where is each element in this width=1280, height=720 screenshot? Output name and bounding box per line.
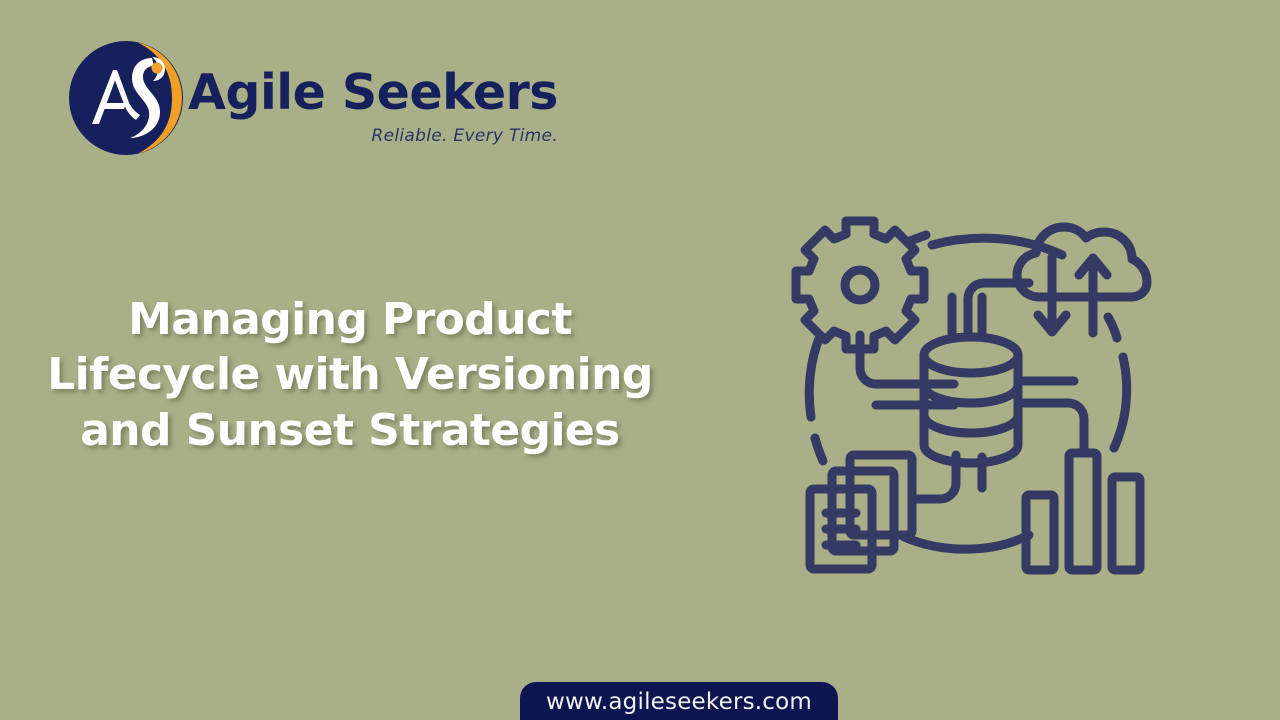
page-title-line-3: and Sunset Strategies	[0, 403, 700, 458]
brand-name: Agile Seekers	[188, 68, 558, 117]
arc-bottom	[904, 535, 1029, 549]
arc-right-long	[1114, 357, 1127, 448]
gear-icon	[796, 221, 924, 349]
arc-right-short	[1108, 317, 1117, 338]
brand-tagline: Reliable. Every Time.	[372, 126, 558, 146]
website-url-badge[interactable]: www.agileseekers.com	[520, 682, 838, 720]
brand-logo-block: Agile Seekers Reliable. Every Time.	[68, 40, 558, 156]
website-url-text: www.agileseekers.com	[546, 689, 812, 715]
product-lifecycle-illustration	[786, 205, 1156, 575]
bar-chart-icon	[1026, 453, 1140, 570]
bar-tall	[1069, 453, 1097, 570]
documents-stack-icon	[810, 455, 912, 569]
arc-left-long	[809, 336, 820, 417]
arc-left-short	[815, 438, 823, 461]
bar-short	[1026, 495, 1054, 570]
bar-medium	[1112, 477, 1140, 570]
dashed-cycle-arcs	[809, 238, 1126, 549]
page-title-line-1: Managing Product	[0, 292, 700, 347]
illustration-svg	[786, 205, 1156, 575]
pipe-db-to-chart	[1018, 403, 1084, 453]
page-title-line-2: Lifecycle with Versioning	[0, 347, 700, 402]
agile-seekers-circle-monogram-icon	[68, 40, 184, 156]
database-cylinder-icon	[924, 337, 1018, 463]
cloud-sync-icon	[1017, 227, 1147, 297]
page-title: Managing Product Lifecycle with Versioni…	[0, 292, 700, 458]
gear-tick	[910, 235, 926, 241]
brand-text-wrap: Agile Seekers Reliable. Every Time.	[188, 40, 558, 146]
